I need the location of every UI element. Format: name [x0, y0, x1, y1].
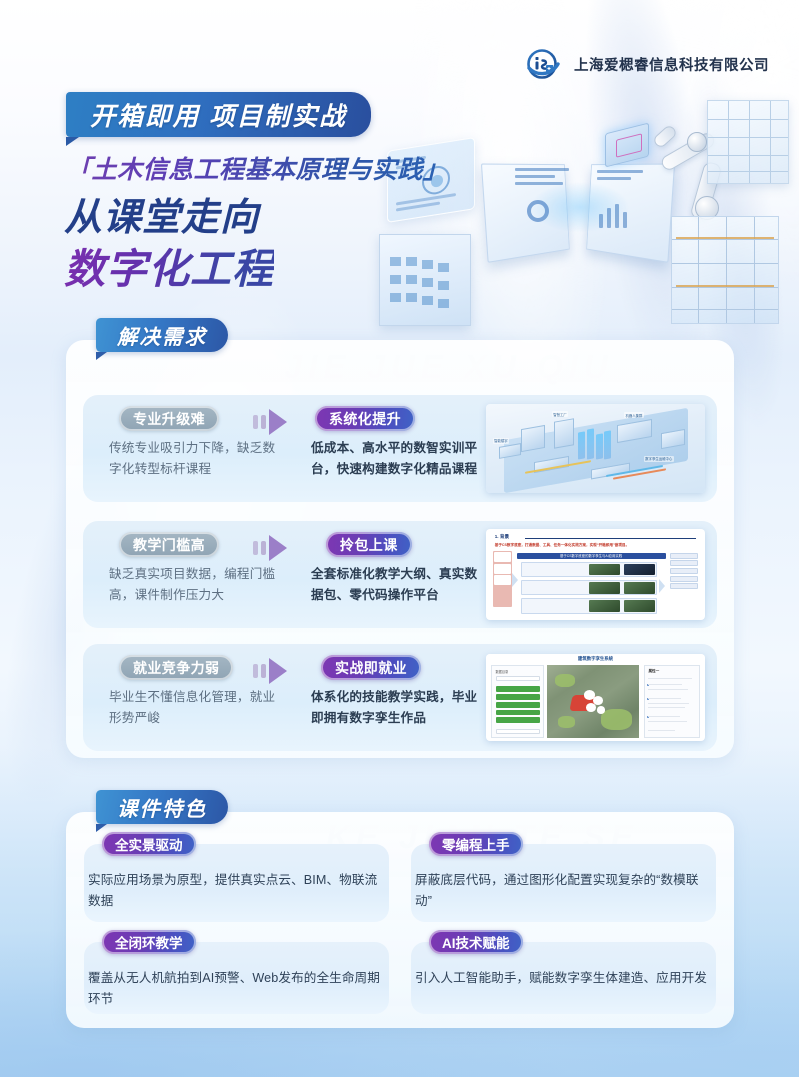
- problem-badge: 教学门槛高: [119, 532, 219, 557]
- feature-text: 屏蔽底层代码，通过图形化配置实现复杂的“数模联动”: [415, 870, 708, 913]
- thumb-header: 建筑数字孪生系统: [486, 654, 705, 664]
- hero-book-title: 「土木信息工程基本原理与实践」: [66, 150, 449, 186]
- problem-text: 毕业生不懂信息化管理，就业形势严峻: [109, 687, 279, 729]
- thumb-label: 机器人集群: [624, 412, 644, 418]
- requirements-panel: 专业升级难 传统专业吸引力下降，缺乏数字化转型标杆课程 系统化提升 低成本、高水…: [66, 340, 734, 758]
- building-tower-icon: [379, 234, 471, 326]
- slide-banner-text: 基于CS数字底座的数字孪生与AI应用实践: [517, 553, 666, 559]
- slide-right-column: [670, 553, 698, 608]
- open-book-hologram-icon: [483, 158, 673, 268]
- section-requirements: JIE JUE XU QIU 专业升级难 传统专业吸引力下降，缺乏数字化转型标杆…: [66, 318, 734, 758]
- feature-text: 覆盖从无人机航拍到AI预警、Web发布的全生命周期环节: [88, 968, 381, 1011]
- problem-text: 缺乏真实项目数据，编程门槛高，课件制作压力大: [109, 564, 279, 606]
- feature-text: 实际应用场景为原型，提供真实点云、BIM、物联流数据: [88, 870, 381, 913]
- hero-line-2: 从课堂走向: [64, 186, 259, 241]
- section-features: KE JIAN TE SE 全实景驱动 实际应用场景为原型，提供真实点云、BIM…: [66, 790, 734, 1030]
- feature-card: AI技术赋能 引入人工智能助手，赋能数字孪生体建造、应用开发: [411, 942, 716, 1014]
- section-tab-tail: [96, 824, 107, 832]
- hero-banner: 开箱即用 项目制实战 「土木信息工程基本原理与实践」 从课堂走向 数字化工程: [0, 86, 799, 336]
- is-circle-logo-icon: [525, 49, 565, 80]
- section-tab-tail: [96, 352, 107, 360]
- solution-text: 体系化的技能教学实践，毕业即拥有数字孪生作品: [311, 687, 489, 729]
- features-panel: 全实景驱动 实际应用场景为原型，提供真实点云、BIM、物联流数据 零编程上手 屏…: [66, 812, 734, 1028]
- solution-text: 低成本、高水平的数智实训平台，快速构建数字化精品课程: [311, 438, 489, 480]
- section-tab-label: 解决需求: [117, 320, 207, 350]
- section-tab-features: 课件特色: [96, 790, 228, 824]
- feature-text: 引入人工智能助手，赋能数字孪生体建造、应用开发: [415, 968, 708, 989]
- courseware-slide-thumbnail: 1. 背景 基于CS数字底座，打通数据、工具、任务一体化实践方案，实现“开箱即用…: [486, 529, 705, 620]
- slide-title: 1. 背景: [495, 534, 509, 540]
- feature-card: 全实景驱动 实际应用场景为原型，提供真实点云、BIM、物联流数据: [84, 844, 389, 922]
- right-arrow-icon: [251, 656, 299, 686]
- solution-badge: 实战即就业: [321, 655, 421, 680]
- thumb-header-text: 建筑数字孪生系统: [486, 654, 705, 664]
- problem-row: 教学门槛高 缺乏真实项目数据，编程门槛高，课件制作压力大 拎包上课 全套标准化教…: [83, 521, 717, 628]
- thumb-right-panel: 属性一: [644, 665, 700, 738]
- feature-card: 全闭环教学 覆盖从无人机航拍到AI预警、Web发布的全生命周期环节: [84, 942, 389, 1014]
- hero-illustration: [379, 86, 799, 336]
- feature-badge: 全闭环教学: [102, 930, 196, 954]
- poster-page: 上海爱楒睿信息科技有限公司: [0, 0, 799, 1077]
- section-tab-requirements: 解决需求: [96, 318, 228, 352]
- hero-ribbon-text: 开箱即用 项目制实战: [90, 96, 347, 133]
- slide-left-column: [493, 551, 513, 607]
- problem-row: 就业竞争力弱 毕业生不懂信息化管理，就业形势严峻 实战即就业 体系化的技能教学实…: [83, 644, 717, 751]
- right-arrow-icon: [251, 533, 299, 563]
- feature-badge: AI技术赋能: [429, 930, 523, 954]
- thumb-left-panel: 数据目录: [491, 665, 544, 738]
- building-tower-icon: [707, 100, 789, 184]
- thumb-label: 数字孪生运维中心: [644, 456, 674, 462]
- solution-text: 全套标准化教学大纲、真实数据包、零代码操作平台: [311, 564, 489, 606]
- brand-header: 上海爱楒睿信息科技有限公司: [525, 49, 769, 80]
- solution-badge: 拎包上课: [326, 532, 412, 557]
- problem-badge: 专业升级难: [119, 406, 219, 431]
- hero-line-3: 数字化工程: [64, 235, 274, 295]
- slide-banner: 基于CS数字底座的数字孪生与AI应用实践: [517, 553, 666, 559]
- feature-badge: 零编程上手: [429, 832, 523, 856]
- scaffold-building-icon: [671, 216, 779, 324]
- company-name: 上海爱楒睿信息科技有限公司: [574, 54, 769, 75]
- feature-badge: 全实景驱动: [102, 832, 196, 856]
- thumb-left-panel-title: 数据目录: [496, 669, 509, 674]
- slide-subtitle: 基于CS数字底座，打通数据、工具、任务一体化实践方案，实现“开箱即用”做项目。: [495, 543, 629, 548]
- section-tab-label: 课件特色: [117, 792, 207, 822]
- thumb-right-panel-title: 属性一: [648, 669, 659, 674]
- hero-ribbon: 开箱即用 项目制实战: [66, 92, 371, 137]
- digital-twin-campus-thumbnail: 建筑数字孪生系统 数据目录: [486, 654, 705, 741]
- thumb-label: 智能楼宇: [493, 438, 510, 444]
- hero-ribbon-tail: [66, 137, 79, 146]
- thumb-label: 智慧工厂: [552, 411, 569, 417]
- problem-row: 专业升级难 传统专业吸引力下降，缺乏数字化转型标杆课程 系统化提升 低成本、高水…: [83, 395, 717, 502]
- thumb-map: [547, 665, 639, 738]
- right-arrow-icon: [251, 407, 299, 437]
- feature-card: 零编程上手 屏蔽底层代码，通过图形化配置实现复杂的“数模联动”: [411, 844, 716, 922]
- problem-badge: 就业竞争力弱: [119, 655, 233, 680]
- solution-badge: 系统化提升: [315, 406, 415, 431]
- smart-city-isometric-thumbnail: 智慧工厂 机器人集群 数字孪生运维中心 智能楼宇: [486, 404, 705, 493]
- problem-text: 传统专业吸引力下降，缺乏数字化转型标杆课程: [109, 438, 279, 480]
